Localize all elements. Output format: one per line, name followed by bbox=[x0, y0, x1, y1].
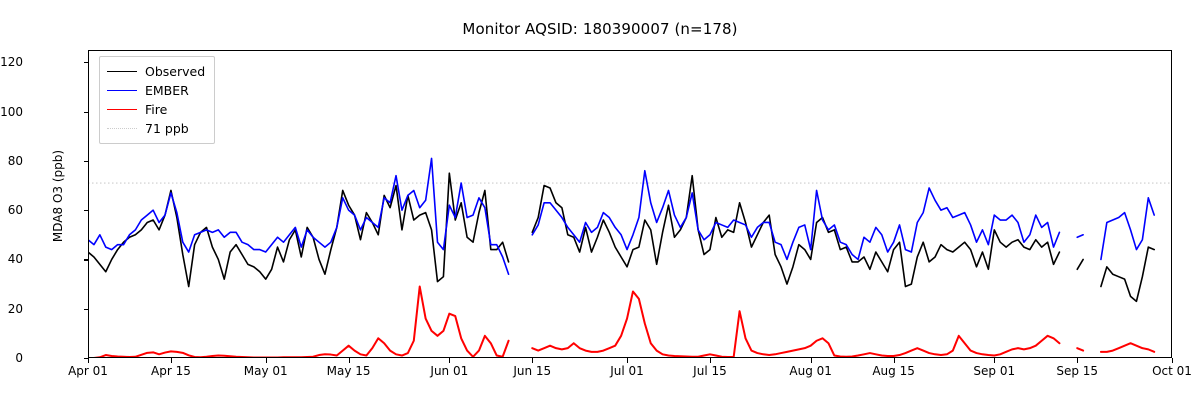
legend-item-71-ppb[interactable]: 71 ppb bbox=[107, 119, 205, 138]
legend-swatch-icon bbox=[107, 109, 137, 110]
legend-item-ember[interactable]: EMBER bbox=[107, 81, 205, 100]
x-tick-label: Jun 15 bbox=[513, 364, 551, 378]
legend-item-label: Observed bbox=[145, 64, 205, 79]
x-tick-label: Jun 01 bbox=[430, 364, 468, 378]
x-tick-label: Jul 01 bbox=[610, 364, 644, 378]
x-tick-mark bbox=[1077, 358, 1078, 363]
legend-item-label: 71 ppb bbox=[145, 121, 189, 136]
series-group bbox=[88, 158, 1154, 358]
y-tick-label: 20 bbox=[0, 302, 23, 316]
series-line-segment bbox=[88, 158, 509, 274]
series-line-segment bbox=[88, 287, 509, 358]
series-line-segment bbox=[1101, 247, 1154, 301]
x-tick-mark bbox=[894, 358, 895, 363]
legend-item-label: Fire bbox=[145, 102, 167, 117]
x-tick-label: Sep 15 bbox=[1056, 364, 1098, 378]
x-tick-label: Aug 15 bbox=[872, 364, 915, 378]
series-line-segment bbox=[1077, 235, 1083, 237]
chart-figure: Monitor AQSID: 180390007 (n=178) MDA8 O3… bbox=[0, 0, 1200, 400]
chart-legend: ObservedEMBERFire71 ppb bbox=[99, 56, 215, 144]
y-axis-label: MDA8 O3 (ppb) bbox=[51, 66, 65, 326]
x-tick-label: Jul 15 bbox=[693, 364, 727, 378]
y-tick-label: 80 bbox=[0, 154, 23, 168]
x-tick-mark bbox=[627, 358, 628, 363]
series-line-segment bbox=[1101, 343, 1154, 352]
y-tick-label: 60 bbox=[0, 203, 23, 217]
x-tick-mark bbox=[994, 358, 995, 363]
series-line-segment bbox=[532, 291, 1059, 357]
series-line-segment bbox=[532, 171, 1059, 260]
x-tick-mark bbox=[266, 358, 267, 363]
legend-swatch-icon bbox=[107, 90, 137, 91]
series-line-segment bbox=[532, 176, 1059, 287]
y-tick-label: 100 bbox=[0, 105, 23, 119]
legend-item-label: EMBER bbox=[145, 83, 189, 98]
chart-canvas bbox=[88, 50, 1172, 358]
x-tick-label: Oct 01 bbox=[1152, 364, 1192, 378]
y-tick-label: 0 bbox=[0, 351, 23, 365]
x-tick-mark bbox=[710, 358, 711, 363]
series-line-segment bbox=[1077, 348, 1083, 350]
x-tick-label: Apr 01 bbox=[68, 364, 108, 378]
series-line-segment bbox=[1101, 198, 1154, 260]
x-tick-label: Aug 01 bbox=[789, 364, 832, 378]
legend-item-fire[interactable]: Fire bbox=[107, 100, 205, 119]
x-tick-mark bbox=[171, 358, 172, 363]
x-tick-label: Sep 01 bbox=[973, 364, 1015, 378]
x-tick-mark bbox=[532, 358, 533, 363]
x-tick-mark bbox=[811, 358, 812, 363]
plot-area bbox=[88, 50, 1172, 358]
x-tick-mark bbox=[88, 358, 89, 363]
series-observed bbox=[88, 173, 1154, 301]
x-tick-mark bbox=[349, 358, 350, 363]
x-tick-label: May 15 bbox=[327, 364, 371, 378]
x-tick-label: May 01 bbox=[244, 364, 288, 378]
legend-item-observed[interactable]: Observed bbox=[107, 62, 205, 81]
chart-title: Monitor AQSID: 180390007 (n=178) bbox=[0, 20, 1200, 38]
legend-swatch-icon bbox=[107, 71, 137, 72]
series-line-segment bbox=[1077, 259, 1083, 269]
legend-swatch-icon bbox=[107, 128, 137, 129]
x-tick-label: Apr 15 bbox=[151, 364, 191, 378]
series-fire bbox=[88, 287, 1154, 358]
y-tick-label: 40 bbox=[0, 252, 23, 266]
y-tick-label: 120 bbox=[0, 55, 23, 69]
x-tick-mark bbox=[449, 358, 450, 363]
x-tick-mark bbox=[1172, 358, 1173, 363]
